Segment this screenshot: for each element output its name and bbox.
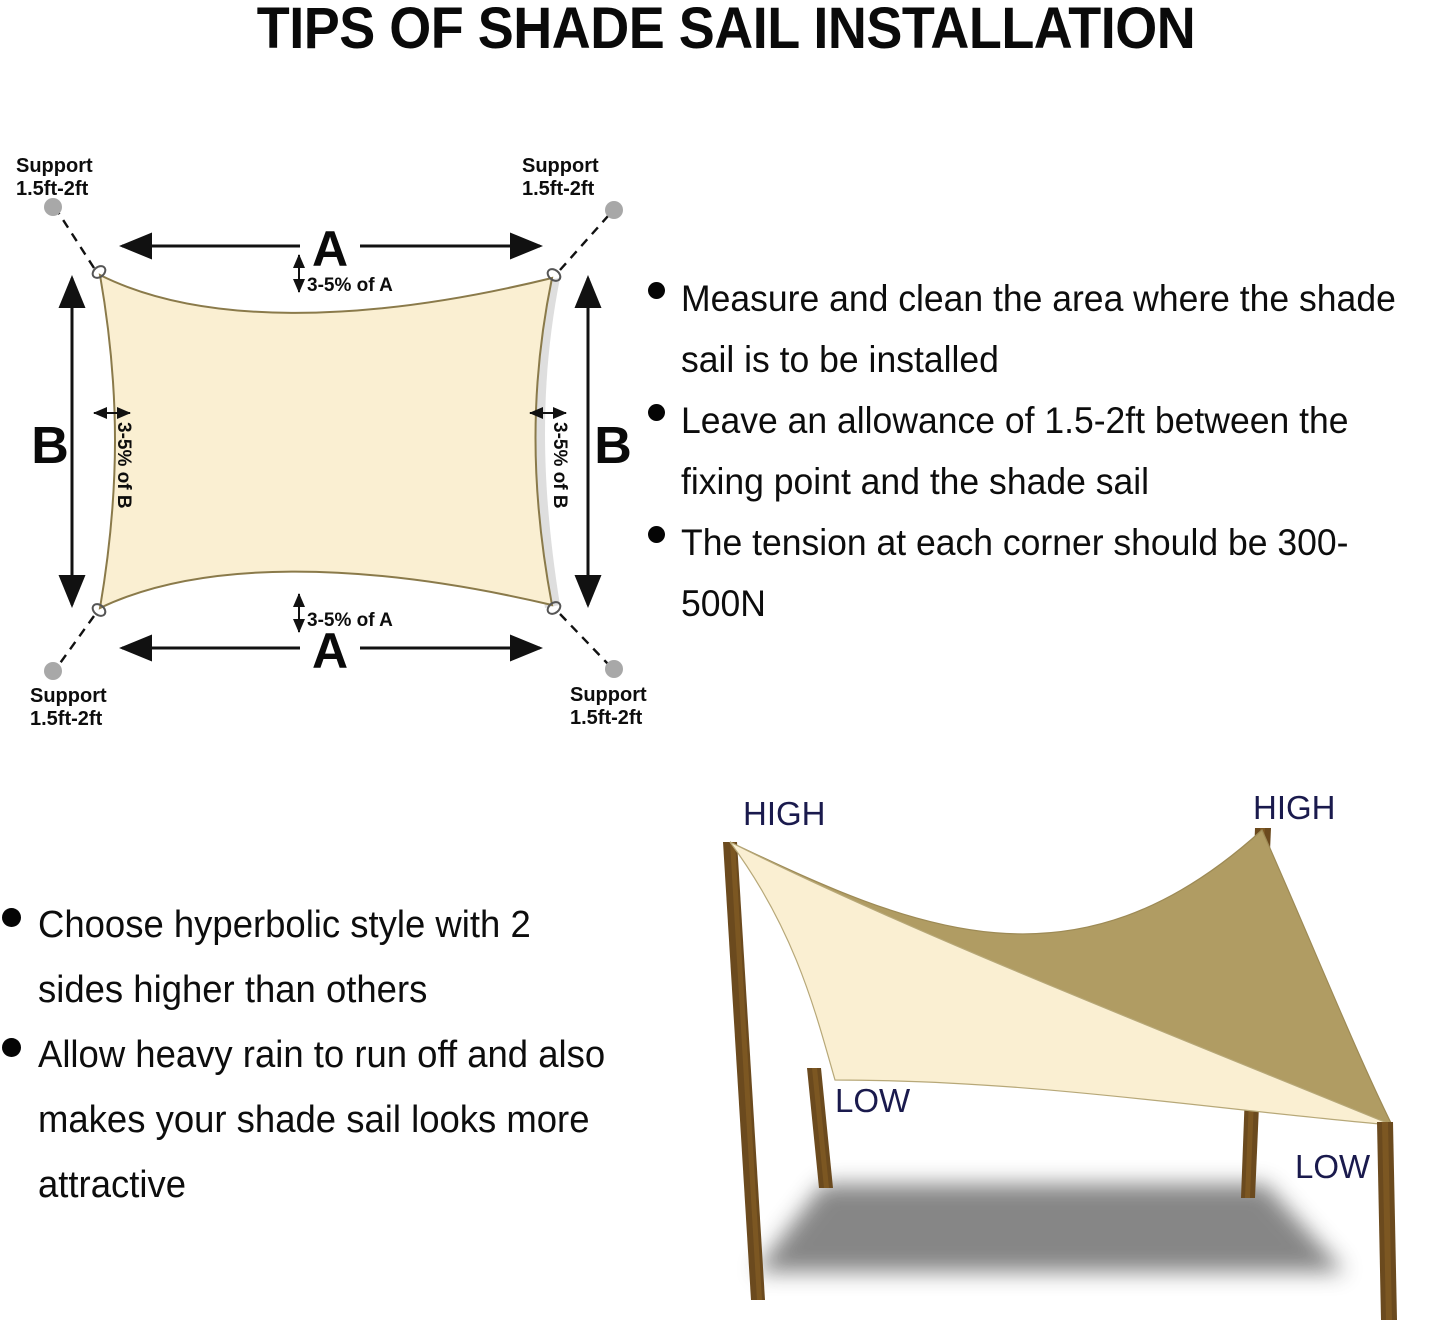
label-high-left: HIGH [743, 795, 826, 832]
list-item-label: The tension at each corner should be 300… [681, 512, 1421, 634]
support-label-bottom-left: Support 1.5ft-2ft [30, 685, 107, 730]
shade-sail-dimension-diagram: Support 1.5ft-2ft Support 1.5ft-2ft Supp… [0, 150, 660, 750]
dimension-label-a-bottom: A [312, 623, 348, 679]
bullet-icon [2, 908, 21, 927]
label-low-right: LOW [1295, 1148, 1371, 1185]
svg-text:Support: Support [16, 155, 93, 177]
hyperbolic-shade-sail-illustration: HIGH HIGH LOW LOW [655, 780, 1452, 1325]
list-item: Allow heavy rain to run off and also mak… [2, 1023, 630, 1218]
dimension-label-a-top: A [312, 221, 348, 277]
list-item-label: Allow heavy rain to run off and also mak… [38, 1023, 606, 1218]
dimension-label-b-left: B [31, 417, 69, 475]
list-item: Choose hyperbolic style with 2 sides hig… [2, 893, 630, 1023]
page-title: TIPS OF SHADE SAIL INSTALLATION [51, 0, 1401, 60]
svg-text:Support: Support [30, 685, 107, 707]
installation-tips-list: Measure and clean the area where the sha… [648, 268, 1452, 634]
label-low-left: LOW [835, 1082, 911, 1119]
svg-text:1.5ft-2ft: 1.5ft-2ft [30, 708, 103, 730]
bullet-icon [648, 404, 665, 421]
list-item-label: Choose hyperbolic style with 2 sides hig… [38, 893, 606, 1023]
list-item-label: Measure and clean the area where the sha… [681, 268, 1421, 390]
support-label-top-left: Support 1.5ft-2ft [16, 155, 93, 200]
bullet-icon [648, 526, 665, 543]
curve-depth-label-b-right: 3-5% of B [549, 422, 570, 509]
list-item: Measure and clean the area where the sha… [648, 268, 1452, 390]
bullet-icon [648, 282, 665, 299]
curve-depth-label-b-left: 3-5% of B [113, 422, 134, 509]
svg-text:1.5ft-2ft: 1.5ft-2ft [16, 178, 89, 200]
post-low-right [1377, 1122, 1397, 1320]
curve-depth-label-a-bottom: 3-5% of A [307, 610, 393, 631]
dimension-diagram-svg: Support 1.5ft-2ft Support 1.5ft-2ft Supp… [0, 150, 660, 750]
hyperbolic-style-list: Choose hyperbolic style with 2 sides hig… [2, 893, 630, 1218]
sail-shape [100, 275, 552, 608]
infographic-page: TIPS OF SHADE SAIL INSTALLATION [0, 0, 1452, 1325]
post-high-left [723, 842, 765, 1300]
support-label-bottom-right: Support 1.5ft-2ft [570, 684, 647, 729]
list-item-label: Leave an allowance of 1.5-2ft between th… [681, 390, 1421, 512]
curve-depth-label-a-top: 3-5% of A [307, 275, 393, 296]
list-item: The tension at each corner should be 300… [648, 512, 1452, 634]
svg-text:Support: Support [522, 155, 599, 177]
hyperbolic-illustration-svg: HIGH HIGH LOW LOW [655, 780, 1452, 1325]
svg-text:1.5ft-2ft: 1.5ft-2ft [522, 178, 595, 200]
post-low-left [807, 1068, 833, 1188]
svg-text:1.5ft-2ft: 1.5ft-2ft [570, 707, 643, 729]
ground-shadow [755, 1184, 1345, 1272]
svg-text:Support: Support [570, 684, 647, 706]
bullet-icon [2, 1038, 21, 1057]
dimension-label-b-right: B [594, 417, 632, 475]
list-item: Leave an allowance of 1.5-2ft between th… [648, 390, 1452, 512]
support-label-top-right: Support 1.5ft-2ft [522, 155, 599, 200]
label-high-right: HIGH [1253, 789, 1336, 826]
